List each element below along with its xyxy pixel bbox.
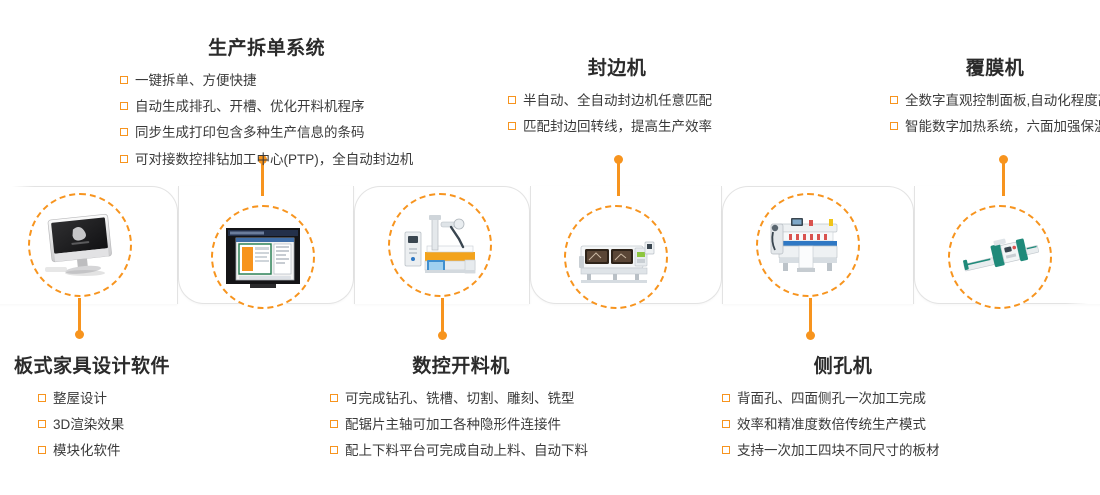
node-cnc-cutting[interactable]	[388, 193, 492, 297]
block-design-software: 板式家具设计软件 整屋设计 3D渲染效果 模块化软件	[14, 356, 170, 460]
list-item: 一键拆单、方便快捷	[120, 72, 413, 89]
block-order-splitting: 生产拆单系统 一键拆单、方便快捷 自动生成排孔、开槽、优化开料机程序 同步生成打…	[120, 38, 413, 168]
bullet-square-icon	[508, 122, 516, 130]
list-item: 同步生成打印包含多种生产信息的条码	[120, 124, 413, 141]
bullet-square-icon	[120, 76, 128, 84]
list-item: 支持一次加工四块不同尺寸的板材	[722, 442, 964, 459]
edge-banding-machine-icon	[577, 222, 655, 292]
heading-design-software: 板式家具设计软件	[14, 356, 170, 379]
laminating-machine-icon	[961, 222, 1039, 292]
list-item: 可完成钻孔、铣槽、切割、雕刻、铣型	[330, 390, 592, 407]
bullets-cnc-cutting: 可完成钻孔、铣槽、切割、雕刻、铣型 配锯片主轴可加工各种隐形件连接件 配上下料平…	[330, 390, 592, 460]
bullet-square-icon	[330, 420, 338, 428]
list-item: 配上下料平台可完成自动上料、自动下料	[330, 442, 592, 459]
side-drilling-machine-icon	[769, 210, 847, 280]
node-order-splitting[interactable]	[211, 205, 315, 309]
heading-side-hole: 侧孔机	[722, 356, 964, 379]
bullet-square-icon	[38, 446, 46, 454]
connector-dot-cnc-cutting	[438, 331, 447, 340]
list-item: 效率和精准度数倍传统生产模式	[722, 416, 964, 433]
cnc-router-machine-icon	[401, 210, 479, 280]
list-item: 3D渲染效果	[38, 416, 170, 433]
bullet-square-icon	[330, 394, 338, 402]
connector-stem-laminating	[1002, 160, 1005, 196]
bullet-square-icon	[38, 394, 46, 402]
block-laminating: 覆膜机 全数字直观控制面板,自动化程度高 智能数字加热系统，六面加强保温	[890, 58, 1100, 135]
block-side-hole: 侧孔机 背面孔、四面侧孔一次加工完成 效率和精准度数倍传统生产模式 支持一次加工…	[722, 356, 964, 460]
software-monitor-icon	[224, 222, 302, 292]
node-side-hole[interactable]	[756, 193, 860, 297]
list-item: 自动生成排孔、开槽、优化开料机程序	[120, 98, 413, 115]
bullets-edge-banding: 半自动、全自动封边机任意匹配 匹配封边回转线，提高生产效率	[508, 92, 726, 136]
list-item: 可对接数控排钻加工中心(PTP)，全自动封边机	[120, 151, 413, 168]
list-item: 匹配封边回转线，提高生产效率	[508, 118, 726, 135]
list-item: 背面孔、四面侧孔一次加工完成	[722, 390, 964, 407]
imac-computer-icon	[41, 210, 119, 280]
bullet-square-icon	[890, 122, 898, 130]
connector-dot-laminating	[999, 155, 1008, 164]
bullet-square-icon	[120, 102, 128, 110]
bullets-side-hole: 背面孔、四面侧孔一次加工完成 效率和精准度数倍传统生产模式 支持一次加工四块不同…	[722, 390, 964, 460]
heading-cnc-cutting: 数控开料机	[330, 356, 592, 379]
production-flow-diagram: 生产拆单系统 一键拆单、方便快捷 自动生成排孔、开槽、优化开料机程序 同步生成打…	[0, 0, 1100, 495]
bullets-order-splitting: 一键拆单、方便快捷 自动生成排孔、开槽、优化开料机程序 同步生成打印包含多种生产…	[120, 72, 413, 168]
bullet-square-icon	[38, 420, 46, 428]
bullet-square-icon	[722, 420, 730, 428]
list-item: 全数字直观控制面板,自动化程度高	[890, 92, 1100, 109]
heading-laminating: 覆膜机	[890, 58, 1100, 81]
bullet-square-icon	[722, 446, 730, 454]
node-design-software[interactable]	[28, 193, 132, 297]
connector-dot-side-hole	[806, 331, 815, 340]
bullet-square-icon	[722, 394, 730, 402]
bullet-square-icon	[120, 155, 128, 163]
bullets-design-software: 整屋设计 3D渲染效果 模块化软件	[38, 390, 170, 460]
node-laminating[interactable]	[948, 205, 1052, 309]
list-item: 智能数字加热系统，六面加强保温	[890, 118, 1100, 135]
heading-edge-banding: 封边机	[508, 58, 726, 81]
bullet-square-icon	[330, 446, 338, 454]
list-item: 模块化软件	[38, 442, 170, 459]
block-cnc-cutting: 数控开料机 可完成钻孔、铣槽、切割、雕刻、铣型 配锯片主轴可加工各种隐形件连接件…	[330, 356, 592, 460]
bullet-square-icon	[890, 96, 898, 104]
connector-stem-edge-banding	[617, 160, 620, 196]
bullets-laminating: 全数字直观控制面板,自动化程度高 智能数字加热系统，六面加强保温	[890, 92, 1100, 136]
list-item: 配锯片主轴可加工各种隐形件连接件	[330, 416, 592, 433]
list-item: 半自动、全自动封边机任意匹配	[508, 92, 726, 109]
list-item: 整屋设计	[38, 390, 170, 407]
node-edge-banding[interactable]	[564, 205, 668, 309]
block-edge-banding: 封边机 半自动、全自动封边机任意匹配 匹配封边回转线，提高生产效率	[508, 58, 726, 135]
bullet-square-icon	[508, 96, 516, 104]
heading-order-splitting: 生产拆单系统	[120, 38, 413, 61]
connector-dot-design-software	[75, 330, 84, 339]
bullet-square-icon	[120, 128, 128, 136]
connector-dot-edge-banding	[614, 155, 623, 164]
